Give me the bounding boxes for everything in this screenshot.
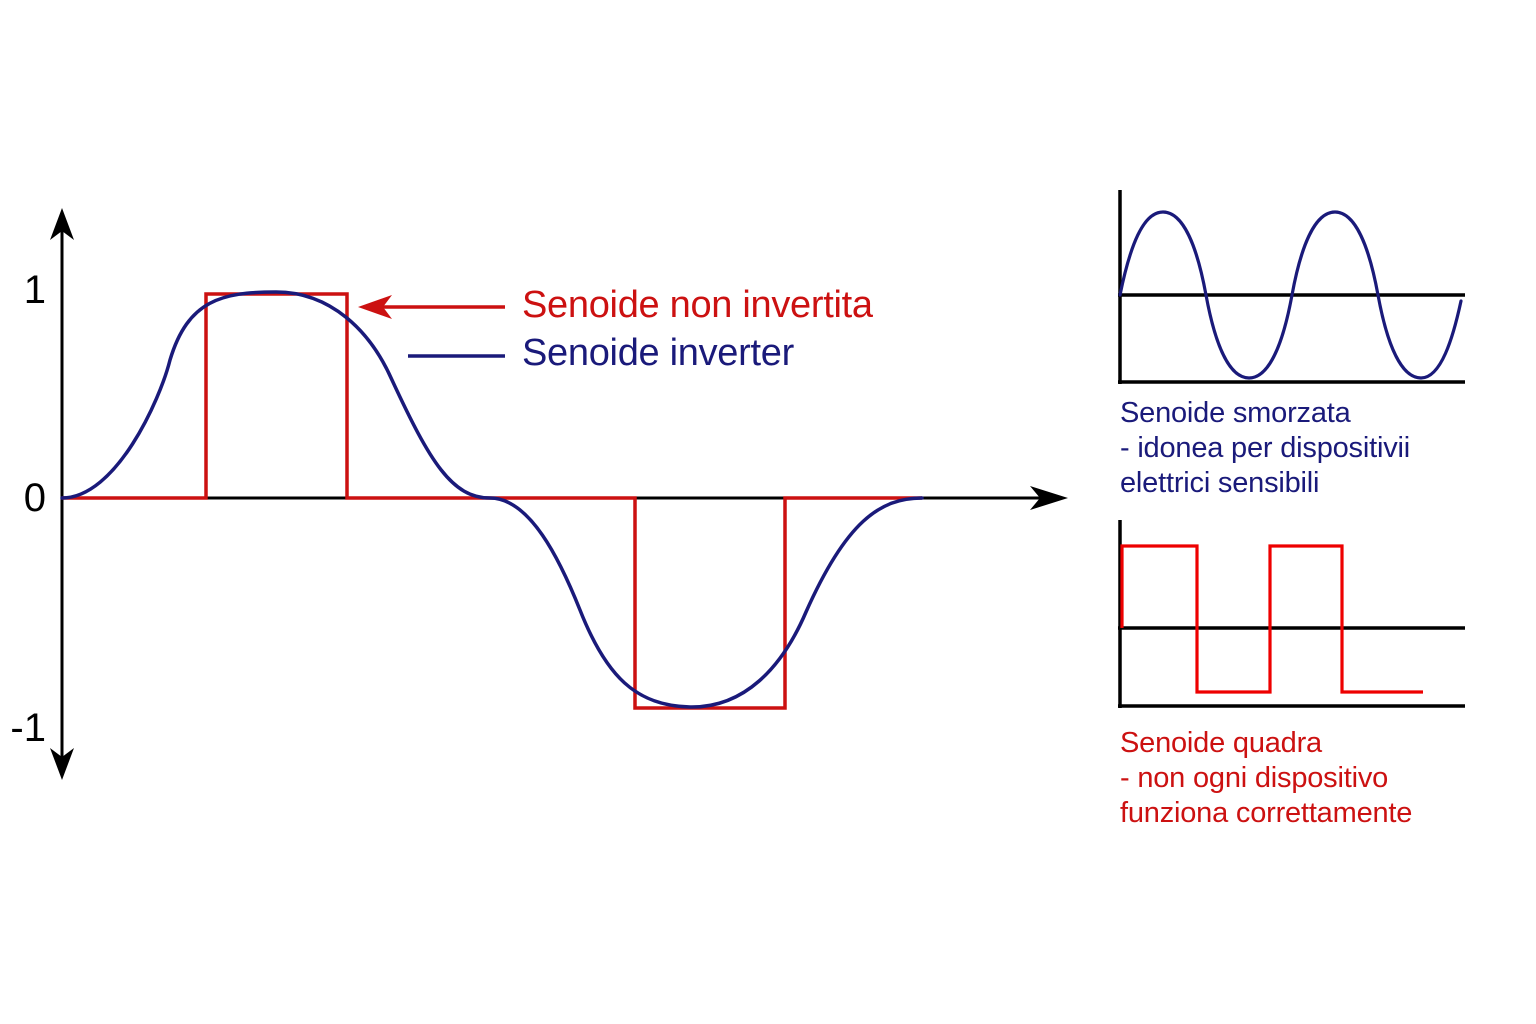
panel-smorzata-caption-line-3: elettrici sensibili — [1120, 466, 1410, 501]
legend-label-senoide-inverter: Senoide inverter — [522, 332, 794, 375]
panel-quadra-caption-line-2: - non ogni dispositivo — [1120, 761, 1412, 796]
y-tick-label-1: 1 — [0, 268, 46, 313]
panel-quadra-square-curve — [1122, 546, 1423, 692]
y-tick-label-minus-1: -1 — [0, 706, 46, 751]
main-diagram-svg — [0, 0, 1536, 1024]
legend-arrow-red — [358, 295, 505, 319]
y-axis — [50, 208, 74, 780]
panel-smorzata-caption-line-1: Senoide smorzata — [1120, 396, 1410, 431]
panel-smorzata-caption: Senoide smorzata - idonea per dispositiv… — [1120, 396, 1410, 501]
panel-quadra-caption-line-3: funziona correttamente — [1120, 796, 1412, 831]
panel-smorzata-svg — [1105, 186, 1475, 396]
legend-label-senoide-non-invertita: Senoide non invertita — [522, 284, 873, 327]
panel-quadra-svg — [1105, 518, 1475, 718]
panel-quadra-caption: Senoide quadra - non ogni dispositivo fu… — [1120, 726, 1412, 831]
figure-canvas: Senoide non invertita Senoide inverter 1… — [0, 0, 1536, 1024]
panel-quadra-caption-line-1: Senoide quadra — [1120, 726, 1412, 761]
panel-smorzata-caption-line-2: - idonea per dispositivii — [1120, 431, 1410, 466]
y-tick-label-0: 0 — [0, 476, 46, 521]
